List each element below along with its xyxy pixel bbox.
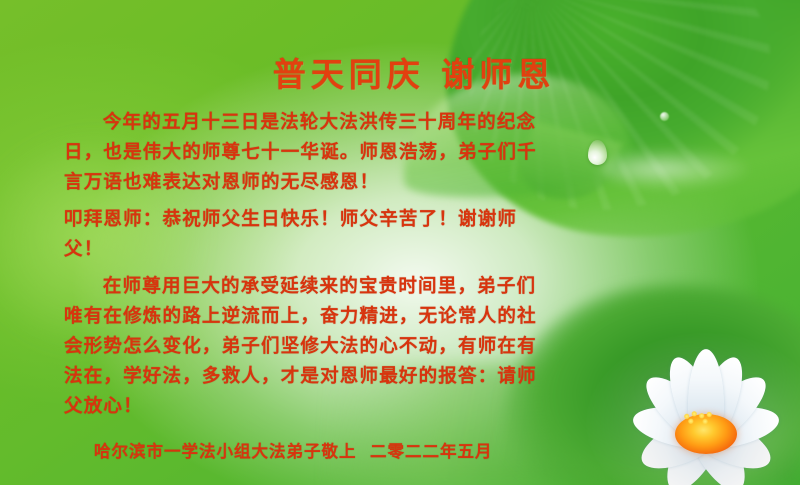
card-body: 今年的五月十三日是法轮大法洪传三十周年的纪念日，也是伟大的师尊七十一华诞。师恩浩…	[64, 108, 554, 423]
body-paragraph-3: 在师尊用巨大的承受延续来的宝贵时间里，弟子们唯有在修炼的路上逆流而上，奋力精进，…	[64, 272, 554, 422]
text-layer: 普天同庆 谢师恩 今年的五月十三日是法轮大法洪传三十周年的纪念日，也是伟大的师尊…	[0, 0, 800, 485]
card-signature: 哈尔滨市一学法小组大法弟子敬上 二零二二年五月	[94, 438, 493, 462]
greeting-card: 普天同庆 谢师恩 今年的五月十三日是法轮大法洪传三十周年的纪念日，也是伟大的师尊…	[0, 0, 800, 485]
body-paragraph-1: 今年的五月十三日是法轮大法洪传三十周年的纪念日，也是伟大的师尊七十一华诞。师恩浩…	[64, 108, 554, 198]
body-paragraph-2: 叩拜恩师：恭祝师父生日快乐！师父辛苦了！谢谢师父！	[64, 205, 554, 265]
card-title: 普天同庆 谢师恩	[0, 48, 800, 96]
